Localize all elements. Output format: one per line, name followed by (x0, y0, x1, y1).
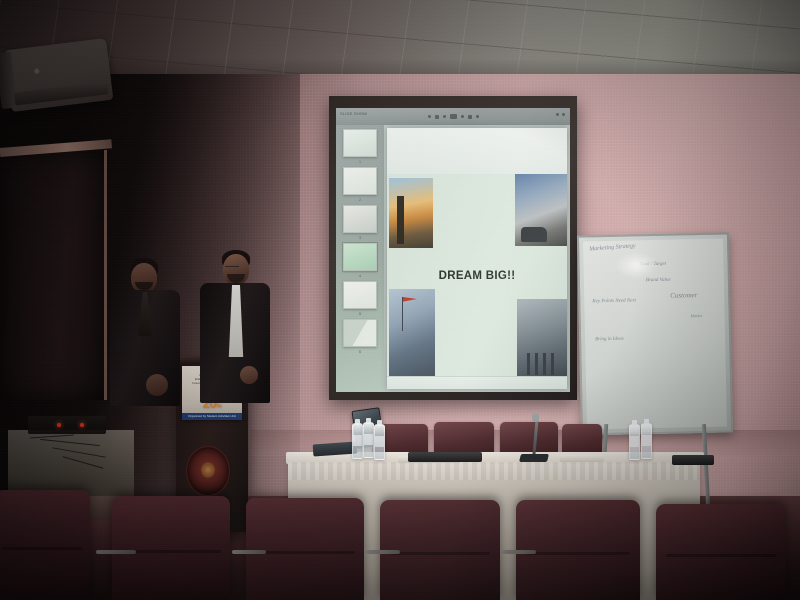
black-folder[interactable] (408, 452, 482, 462)
whiteboard-note: Customer (670, 291, 697, 300)
slide-thumbnail-active[interactable] (343, 243, 377, 271)
conference-room-photo: SLIDE SHOW 1 2 (0, 0, 800, 600)
screen-icon[interactable] (450, 114, 457, 119)
water-bottle[interactable] (352, 423, 363, 459)
table-cloth-drape (288, 462, 700, 480)
slide-thumbnail-number: 1 (359, 159, 361, 165)
audience-chair[interactable] (246, 498, 364, 600)
chair-armrest (366, 550, 400, 554)
audience-chair[interactable] (112, 496, 230, 600)
slide-viewport[interactable]: DREAM BIG!! (384, 125, 570, 392)
whiteboard-note: Bring in Ideas (595, 337, 624, 343)
ac-indicator-icon (34, 68, 40, 74)
audience-chair[interactable] (656, 504, 786, 600)
slide-thumbnail[interactable] (343, 129, 377, 157)
slide-thumbnail[interactable] (343, 319, 377, 347)
microphone-base (519, 454, 549, 462)
whiteboard-note: Key Points Need Next (592, 298, 636, 304)
projected-presentation[interactable]: SLIDE SHOW 1 2 (336, 108, 570, 392)
ac-vent-louver (14, 81, 109, 105)
sunset-skyline-photo (389, 178, 433, 248)
document-stack[interactable] (560, 455, 604, 462)
banner-footer-bar: Organized by Student Activities Unit (182, 413, 242, 420)
slide-thumbnail-number: 3 (359, 235, 361, 241)
presenter-right-hand (240, 366, 258, 384)
presenter-left-hand (146, 374, 168, 396)
minimize-icon[interactable] (556, 113, 559, 116)
university-emblem-icon (186, 446, 230, 496)
chair-armrest (502, 550, 536, 554)
close-icon[interactable] (562, 113, 565, 116)
slide-thumbnail-number: 5 (359, 311, 361, 317)
prev-icon[interactable] (443, 115, 446, 118)
slide-thumbnail-pane[interactable]: 1 2 3 4 5 6 (336, 125, 384, 392)
whiteboard-note: Market (691, 313, 703, 318)
water-bottle[interactable] (374, 424, 385, 460)
next-icon[interactable] (461, 115, 464, 118)
whiteboard-note: Marketing Strategy (589, 243, 636, 252)
slide-thumbnail-number: 6 (359, 349, 361, 355)
air-conditioner-unit (5, 38, 114, 112)
microphone-head-icon (532, 413, 539, 422)
banner-footer-text: Organized by Student Activities Unit (182, 413, 242, 420)
slide-footer-band (387, 376, 567, 389)
app-title: SLIDE SHOW (340, 111, 367, 116)
red-flag-climber-photo (389, 289, 435, 377)
water-bottle[interactable] (641, 423, 652, 459)
slide-thumbnail-number: 4 (359, 273, 361, 279)
presentation-app-body: 1 2 3 4 5 6 (336, 125, 570, 392)
pointer-icon[interactable] (468, 115, 472, 119)
eyeglasses-icon (225, 266, 239, 270)
slide-thumbnail[interactable] (343, 281, 377, 309)
emblem-core (201, 462, 215, 478)
whiteboard-surface: Marketing Strategy Goal / Target Brand V… (583, 239, 727, 430)
slide-canvas: DREAM BIG!! (387, 174, 567, 377)
whiteboard-glare (615, 252, 658, 279)
crowd-market-photo (517, 299, 567, 377)
slide-thumbnail[interactable] (343, 205, 377, 233)
current-slide: DREAM BIG!! (387, 128, 567, 389)
slide-headline: DREAM BIG!! (387, 270, 567, 282)
water-bottle[interactable] (629, 424, 640, 460)
menu-icon[interactable] (476, 115, 479, 118)
audience-chair[interactable] (0, 490, 90, 600)
whiteboard: Marketing Strategy Goal / Target Brand V… (577, 232, 733, 435)
black-folder[interactable] (672, 455, 714, 465)
chair-armrest (232, 550, 266, 554)
dark-curtain-panel (0, 150, 107, 400)
slide-thumbnail[interactable] (343, 167, 377, 195)
power-indicator-icon (80, 423, 84, 427)
av-equipment-unit[interactable] (28, 416, 106, 434)
slide-thumbnail-number: 2 (359, 197, 361, 203)
presentation-app-toolbar[interactable]: SLIDE SHOW (336, 108, 570, 125)
slide-header-band (387, 128, 567, 175)
city-street-photo (515, 174, 567, 246)
power-indicator-icon (57, 423, 61, 427)
water-bottle[interactable] (363, 422, 374, 458)
whiteboard-note: Brand Value (646, 278, 671, 284)
pause-icon[interactable] (435, 115, 439, 119)
chair-armrest (96, 550, 136, 554)
play-icon[interactable] (428, 115, 431, 118)
